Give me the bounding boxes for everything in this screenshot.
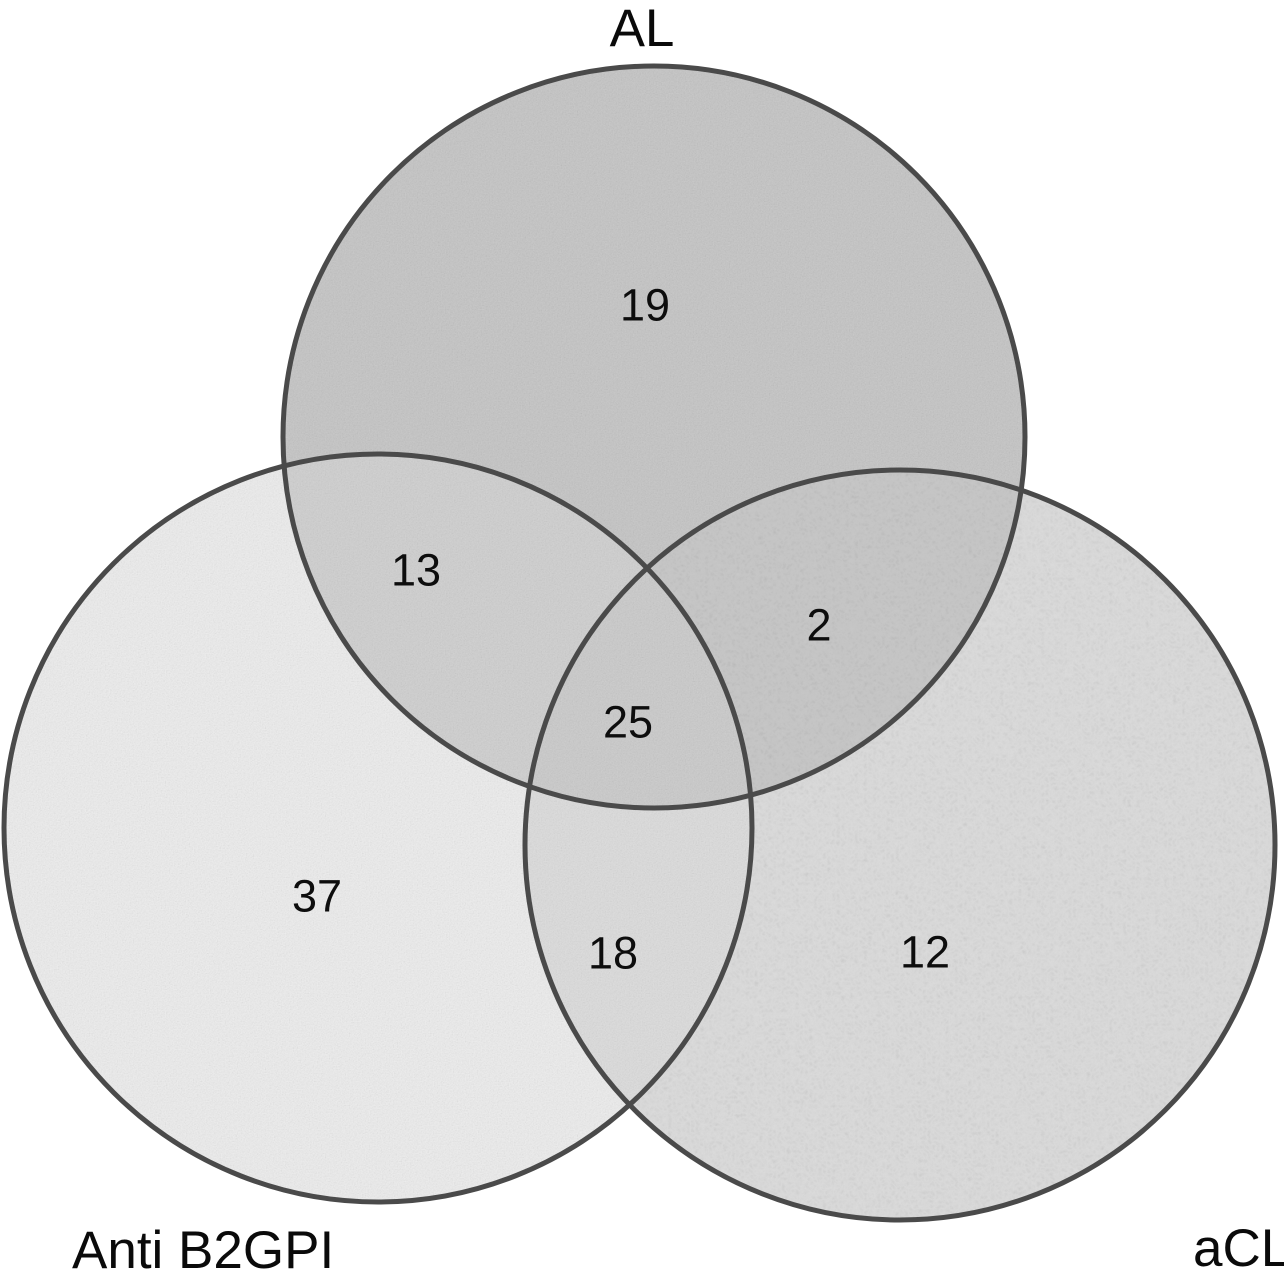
set-label-anti-b2gpi: Anti B2GPI: [72, 1224, 334, 1277]
venn-fills: [4, 66, 1275, 1220]
set-label-al: AL: [0, 2, 1284, 55]
set-label-acl: aCL: [1193, 1222, 1284, 1275]
venn-diagram-canvas: [0, 0, 1284, 1284]
venn-diagram-figure: AL Anti B2GPI aCL 19 13 2 25 37 18 12: [0, 0, 1284, 1284]
